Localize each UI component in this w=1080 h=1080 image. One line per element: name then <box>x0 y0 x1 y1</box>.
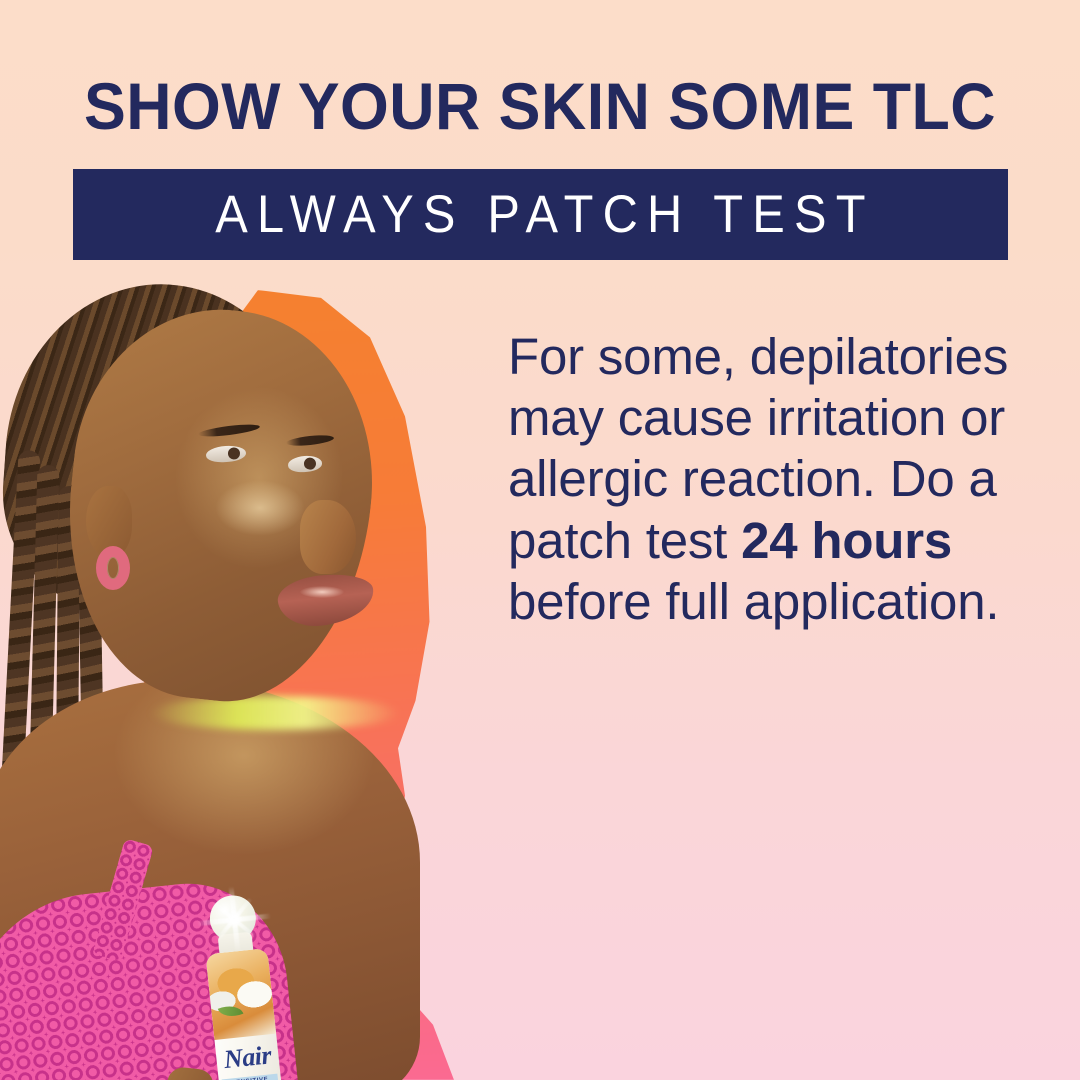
label-artwork-coconut-almond <box>206 948 277 1040</box>
body-copy: For some, depilatories may cause irritat… <box>508 326 1020 632</box>
model-photo: Nair SENSITIVE FORMULA PREP & SMOOTH FAC… <box>0 250 560 1080</box>
poster-canvas: Nair SENSITIVE FORMULA PREP & SMOOTH FAC… <box>0 0 1080 1080</box>
page-title: SHOW YOUR SKIN SOME TLC <box>27 68 1053 144</box>
shoulder-highlight <box>150 696 400 730</box>
banner-label: ALWAYS PATCH TEST <box>215 184 874 245</box>
patch-test-banner: ALWAYS PATCH TEST <box>73 169 1008 260</box>
cheek-highlight <box>215 480 305 536</box>
lip-gloss-highlight <box>300 586 344 598</box>
brand-name: Nair <box>215 1040 280 1076</box>
nose <box>300 500 356 574</box>
body-copy-part2: before full application. <box>508 573 999 630</box>
hoop-earring-icon <box>96 546 130 590</box>
sensitive-formula-badge: SENSITIVE FORMULA <box>222 1074 279 1080</box>
body-copy-emphasis: 24 hours <box>741 512 952 569</box>
